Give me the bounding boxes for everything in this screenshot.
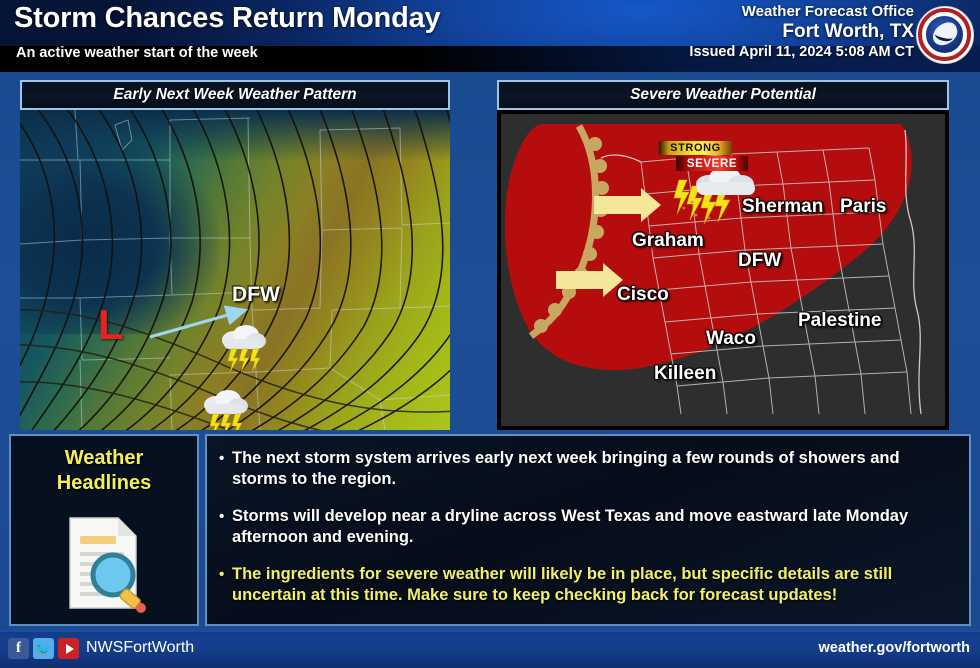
page-subtitle: An active weather start of the week [16,45,258,61]
headline-bullet-highlighted: • The ingredients for severe weather wil… [219,564,955,606]
weather-headlines-title: Weather Headlines [11,446,197,496]
document-magnifier-icon [56,512,152,616]
bullet-marker: • [219,564,232,585]
low-pressure-label: L [98,308,124,342]
left-panel-title: Early Next Week Weather Pattern [20,80,450,110]
city-label-graham: Graham [632,230,704,252]
office-info: Weather Forecast Office Fort Worth, TX I… [689,3,914,62]
youtube-icon[interactable] [58,638,79,659]
headlines-bullet-list: • The next storm system arrives early ne… [205,434,971,626]
city-label-palestine: Palestine [798,310,881,332]
city-label-waco: Waco [706,328,756,350]
office-city: Fort Worth, TX [689,21,914,43]
header-banner: Storm Chances Return Monday An active we… [0,0,980,72]
right-panel-title: Severe Weather Potential [497,80,949,110]
bullet-text: The next storm system arrives early next… [232,448,955,490]
city-label-paris: Paris [840,196,886,218]
bullet-marker: • [219,506,232,527]
city-label-cisco: Cisco [617,284,669,306]
headline-bullet: • The next storm system arrives early ne… [219,448,955,490]
height-contours [20,110,450,430]
strong-badge: STRONG [659,141,732,155]
social-handle: NWSFortWorth [86,639,194,657]
issued-timestamp: Issued April 11, 2024 5:08 AM CT [689,43,914,62]
headlines-title-line1: Weather [11,446,197,471]
facebook-icon[interactable]: f [8,638,29,659]
weather-headlines-panel: Weather Headlines [9,434,199,626]
office-label: Weather Forecast Office [689,3,914,21]
thunderstorm-icon [200,385,250,430]
bullet-marker: • [219,448,232,469]
page-title: Storm Chances Return Monday [14,2,440,35]
city-label-killeen: Killeen [654,363,716,385]
severe-badge: SEVERE [676,156,748,171]
website-url[interactable]: weather.gov/fortworth [819,640,970,656]
city-label-dfw: DFW [738,250,781,272]
bullet-text: Storms will develop near a dryline acros… [232,506,955,548]
dfw-city-label: DFW [232,283,280,307]
weather-pattern-map: L [20,110,450,430]
twitter-icon[interactable]: 🐦 [33,638,54,659]
national-weather-service-seal-icon [916,6,974,64]
headline-bullet: • Storms will develop near a dryline acr… [219,506,955,548]
footer-bar: f 🐦 NWSFortWorth weather.gov/fortworth [0,630,980,668]
bullet-text: The ingredients for severe weather will … [232,564,955,606]
thunderstorm-icon [218,320,268,376]
headlines-title-line2: Headlines [11,471,197,496]
